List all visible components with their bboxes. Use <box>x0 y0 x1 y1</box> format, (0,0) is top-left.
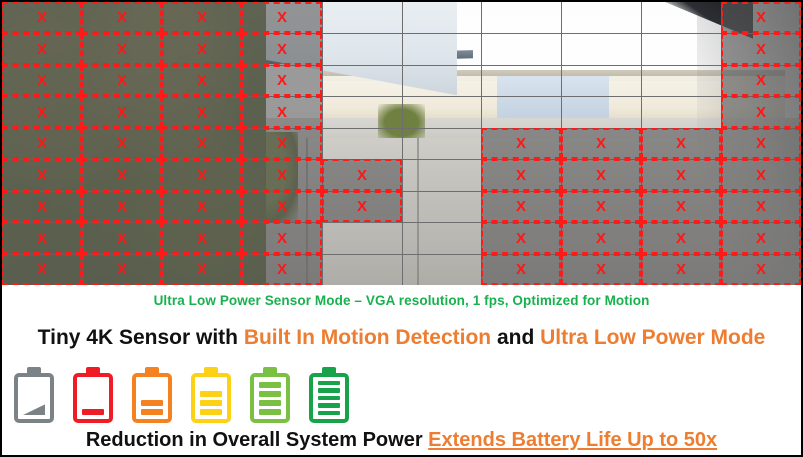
battery-segment <box>318 411 340 415</box>
motion-cell: X <box>721 33 801 65</box>
motion-cell: X <box>322 159 402 191</box>
slide-root: XXXXXXXXXXXXXXXXXXXXXXXXXXXXXXXXXXXXXXXX… <box>0 0 803 457</box>
battery-wedge <box>23 402 45 415</box>
motion-cell: X <box>82 2 162 33</box>
motion-cell: X <box>162 2 242 33</box>
motion-cell: X <box>242 96 322 128</box>
motion-cell: X <box>721 128 801 159</box>
motion-cell: X <box>242 191 322 222</box>
battery-segment <box>259 382 281 388</box>
bottom-statement-part-1: Reduction in Overall System Power <box>86 429 428 452</box>
battery-segment <box>318 381 340 385</box>
motion-cell: X <box>721 222 801 254</box>
mode-caption: Ultra Low Power Sensor Mode – VGA resolu… <box>2 287 801 313</box>
battery-segment <box>259 391 281 397</box>
motion-cell: X <box>561 222 641 254</box>
battery-segment <box>200 391 222 397</box>
motion-cell: X <box>242 254 322 285</box>
headline-accent-motion-detection: Built In Motion Detection <box>244 326 491 350</box>
battery-segment <box>318 396 340 400</box>
motion-cell: X <box>82 222 162 254</box>
motion-cell: X <box>721 96 801 128</box>
motion-cell: X <box>162 96 242 128</box>
battery-segment <box>318 403 340 407</box>
battery-full-icon <box>309 367 349 423</box>
battery-body <box>250 373 290 423</box>
motion-cell: X <box>721 159 801 191</box>
battery-low-icon <box>132 367 172 423</box>
battery-segment <box>259 400 281 406</box>
bottom-statement-accent: Extends Battery Life Up to 50x <box>428 429 717 452</box>
motion-cell: X <box>82 159 162 191</box>
motion-cell: X <box>162 191 242 222</box>
battery-body <box>309 373 349 423</box>
headline: Tiny 4K Sensor with Built In Motion Dete… <box>2 322 801 354</box>
headline-accent-low-power: Ultra Low Power Mode <box>540 326 765 350</box>
bottom-statement: Reduction in Overall System Power Extend… <box>2 426 801 454</box>
battery-level-row <box>14 365 374 423</box>
motion-cell: X <box>641 254 721 285</box>
mode-caption-text: Ultra Low Power Sensor Mode – VGA resolu… <box>154 293 650 308</box>
motion-cell: X <box>242 222 322 254</box>
battery-segment <box>318 388 340 392</box>
motion-cell: X <box>82 254 162 285</box>
motion-cell: X <box>721 2 801 33</box>
headline-part-1: Tiny 4K Sensor with <box>38 326 244 350</box>
motion-cell: X <box>2 96 82 128</box>
battery-segment <box>259 409 281 415</box>
battery-segment <box>200 409 222 415</box>
motion-cell: X <box>242 2 322 33</box>
motion-cell: X <box>481 254 561 285</box>
motion-cell: X <box>481 159 561 191</box>
motion-cell: X <box>242 65 322 96</box>
motion-cell: X <box>721 254 801 285</box>
headline-part-3: and <box>491 326 540 350</box>
motion-cell: X <box>162 222 242 254</box>
motion-cell: X <box>162 33 242 65</box>
motion-cell: X <box>2 159 82 191</box>
motion-cell: X <box>2 191 82 222</box>
motion-cell: X <box>721 65 801 96</box>
motion-cell: X <box>641 191 721 222</box>
battery-segment <box>200 400 222 406</box>
battery-body <box>132 373 172 423</box>
motion-detection-cells: XXXXXXXXXXXXXXXXXXXXXXXXXXXXXXXXXXXXXXXX… <box>2 2 801 285</box>
motion-cell: X <box>481 128 561 159</box>
motion-cell: X <box>561 191 641 222</box>
motion-cell: X <box>322 191 402 222</box>
motion-cell: X <box>481 191 561 222</box>
motion-cell: X <box>242 33 322 65</box>
battery-segment <box>141 400 163 406</box>
motion-cell: X <box>2 33 82 65</box>
motion-cell: X <box>82 65 162 96</box>
motion-cell: X <box>641 128 721 159</box>
battery-empty-icon <box>14 367 54 423</box>
battery-segment <box>141 409 163 415</box>
battery-high-icon <box>250 367 290 423</box>
motion-cell: X <box>162 65 242 96</box>
motion-cell: X <box>2 128 82 159</box>
motion-cell: X <box>2 222 82 254</box>
camera-scene: XXXXXXXXXXXXXXXXXXXXXXXXXXXXXXXXXXXXXXXX… <box>2 2 801 285</box>
battery-segment <box>82 409 104 415</box>
motion-cell: X <box>162 159 242 191</box>
battery-body <box>14 373 54 423</box>
battery-body <box>73 373 113 423</box>
battery-medium-icon <box>191 367 231 423</box>
motion-cell: X <box>162 128 242 159</box>
motion-cell: X <box>481 222 561 254</box>
motion-cell: X <box>561 254 641 285</box>
battery-critical-icon <box>73 367 113 423</box>
motion-cell: X <box>2 65 82 96</box>
motion-cell: X <box>721 191 801 222</box>
motion-cell: X <box>2 254 82 285</box>
motion-cell: X <box>641 222 721 254</box>
motion-cell: X <box>242 128 322 159</box>
motion-cell: X <box>82 191 162 222</box>
motion-cell: X <box>82 33 162 65</box>
motion-cell: X <box>561 128 641 159</box>
motion-cell: X <box>82 96 162 128</box>
motion-cell: X <box>561 159 641 191</box>
motion-cell: X <box>242 159 322 191</box>
motion-cell: X <box>2 2 82 33</box>
motion-cell: X <box>641 159 721 191</box>
motion-cell: X <box>82 128 162 159</box>
motion-cell: X <box>162 254 242 285</box>
battery-body <box>191 373 231 423</box>
